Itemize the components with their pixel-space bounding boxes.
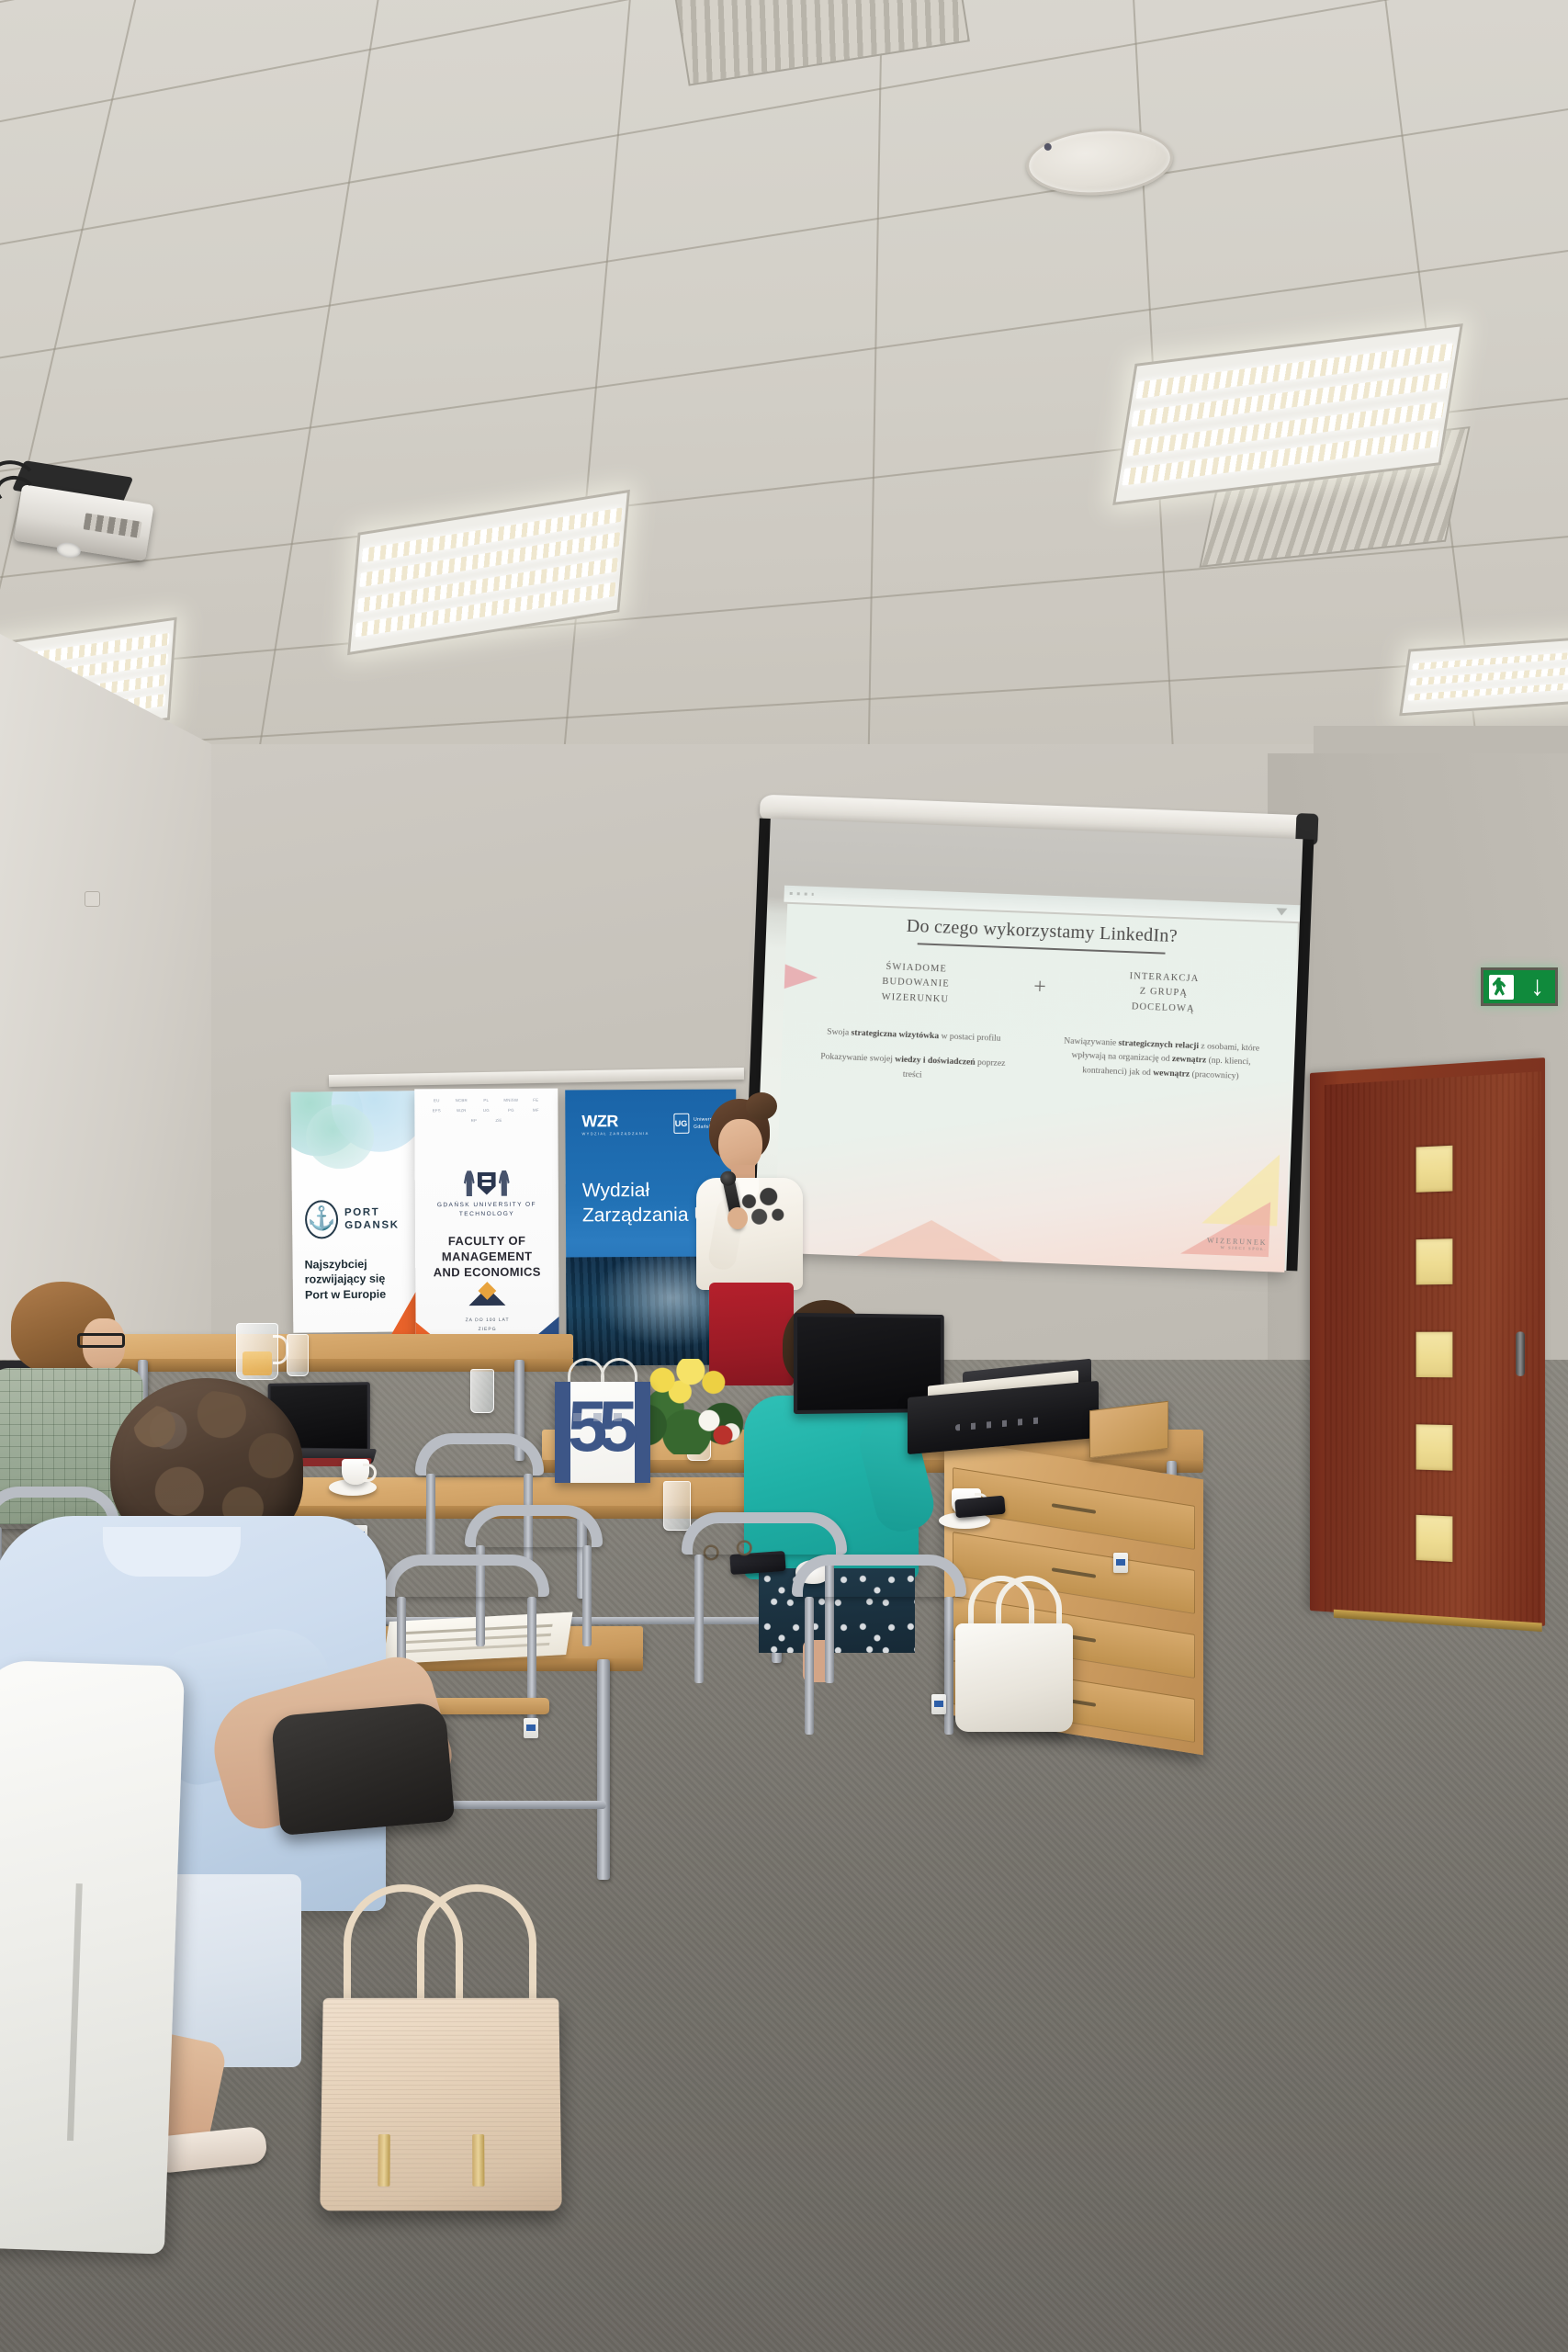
gut-faculty-name: FACULTY OF MANAGEMENT AND ECONOMICS [421,1234,553,1281]
gut-university-name: GDAŃSK UNIVERSITY OF TECHNOLOGY [415,1201,558,1220]
slide-column-left-body: Swoja strategiczna wizytówka w postaci p… [812,1024,1014,1086]
door-leaf[interactable] [1325,1071,1541,1626]
port-gdansk-wordmark: PORT GDANSK [344,1205,400,1232]
projector-lens-icon [56,541,82,560]
chair-number-tag [931,1694,946,1714]
ceiling [0,0,1568,808]
door-glass-panel-2 [1416,1238,1453,1284]
gift-bag[interactable]: 55 [555,1358,650,1483]
exit-runner-half [1483,975,1519,1000]
bouquet-red-flower [707,1423,739,1447]
projected-slide: Do czego wykorzystamy LinkedIn? ŚWIADOME… [774,904,1298,1272]
exit-arrow-half: ↓ [1519,973,1555,1001]
black-backpack[interactable] [271,1702,456,1836]
gift-bag-logos [573,1413,632,1421]
glasses-icon [77,1333,125,1348]
wall-outlet [85,891,100,907]
chrome-dots-icon [790,892,814,896]
emergency-exit-sign: ↓ [1481,967,1558,1006]
wzr-wordmark: WZR WYDZIAŁ ZARZĄDZANIA [581,1112,649,1136]
running-person-icon [1489,975,1514,1000]
screen-surface: Do czego wykorzystamy LinkedIn? ŚWIADOME… [754,819,1303,1271]
room-door[interactable] [1310,1057,1545,1626]
chair-number-tag [1113,1553,1128,1573]
slide-column-right-body: Nawiązywanie strategicznych relacji z os… [1060,1034,1262,1084]
projection-screen: Do czego wykorzystamy LinkedIn? ŚWIADOME… [743,795,1315,1275]
slide-plus-sign: + [1011,965,1064,1098]
desk-leg [597,1659,610,1880]
tote-metal-tab-left [378,2134,390,2187]
ceiling-light-panel-5 [1399,637,1568,717]
banner-port-gdansk: PORT GDANSK Najszybciej rozwijający się … [291,1091,419,1332]
drinking-glass[interactable] [287,1334,309,1376]
tote-bag-body [320,1998,562,2211]
beige-tote-bag[interactable] [321,1879,560,2210]
slide-footer-logo: WIZERUNEK W SIECI SPOŁ. [1207,1237,1268,1252]
door-handle[interactable] [1516,1331,1525,1375]
banner-gut-faculty: EU NCBR PL MNiSW FE EFS WZR UG PG MF RP … [414,1089,559,1358]
gut-chevron-mark-icon [468,1285,505,1306]
down-arrow-icon: ↓ [1530,973,1544,1001]
door-glass-panel-3 [1416,1332,1453,1378]
slide-columns: ŚWIADOME BUDOWANIE WIZERUNKU Swoja strat… [781,956,1296,1108]
wooden-box[interactable] [1089,1401,1168,1459]
anchor-icon [305,1200,338,1238]
tote-metal-tab-right [472,2134,484,2187]
port-banner-wave-graphic [291,1091,417,1174]
gift-bag-body: 55 [555,1382,650,1483]
presenter-hand [728,1207,748,1229]
desk-back-left [96,1334,573,1360]
port-banner-claim: Najszybciej rozwijający się Port w Europ… [305,1256,412,1302]
gut-crest-icon [459,1168,514,1199]
attendee-blue-collar [103,1527,241,1577]
handbag-body [955,1623,1073,1732]
white-jacket-on-chair[interactable] [0,1659,185,2254]
chevron-down-icon[interactable] [1276,908,1287,915]
drinking-glass[interactable] [470,1369,494,1413]
slide-decor-bottom-triangle [857,1217,1005,1261]
slide-column-right: INTERAKCJA Z GRUPĄ DOCELOWĄ Nawiązywanie… [1059,967,1264,1106]
slide-column-right-heading: INTERAKCJA Z GRUPĄ DOCELOWĄ [1063,967,1265,1019]
gut-partner-logos: EU NCBR PL MNiSW FE EFS WZR UG PG MF RP … [420,1098,552,1124]
tote-handle-right [417,1884,536,2013]
white-handbag[interactable] [955,1576,1073,1732]
projector-vents [84,513,142,537]
door-glass-panel-1 [1416,1146,1453,1193]
chair[interactable] [792,1555,966,1757]
chair-number-tag [524,1718,538,1738]
presenter-hair-bun [746,1092,777,1120]
slide-column-left-heading: ŚWIADOME BUDOWANIE WIZERUNKU [815,957,1017,1010]
slide-column-left: ŚWIADOME BUDOWANIE WIZERUNKU Swoja strat… [812,957,1017,1097]
door-glass-panel-5 [1416,1515,1453,1562]
water-jug[interactable] [236,1323,278,1380]
gut-banner-footer: ZA DO 100 LAT ZIEPG [416,1317,559,1335]
port-gdansk-logo: PORT GDANSK [305,1199,400,1238]
conference-room-photo: ↓ Do czego [0,0,1568,2352]
gift-bag-number: 55 [568,1395,637,1474]
door-glass-panel-4 [1416,1424,1453,1470]
